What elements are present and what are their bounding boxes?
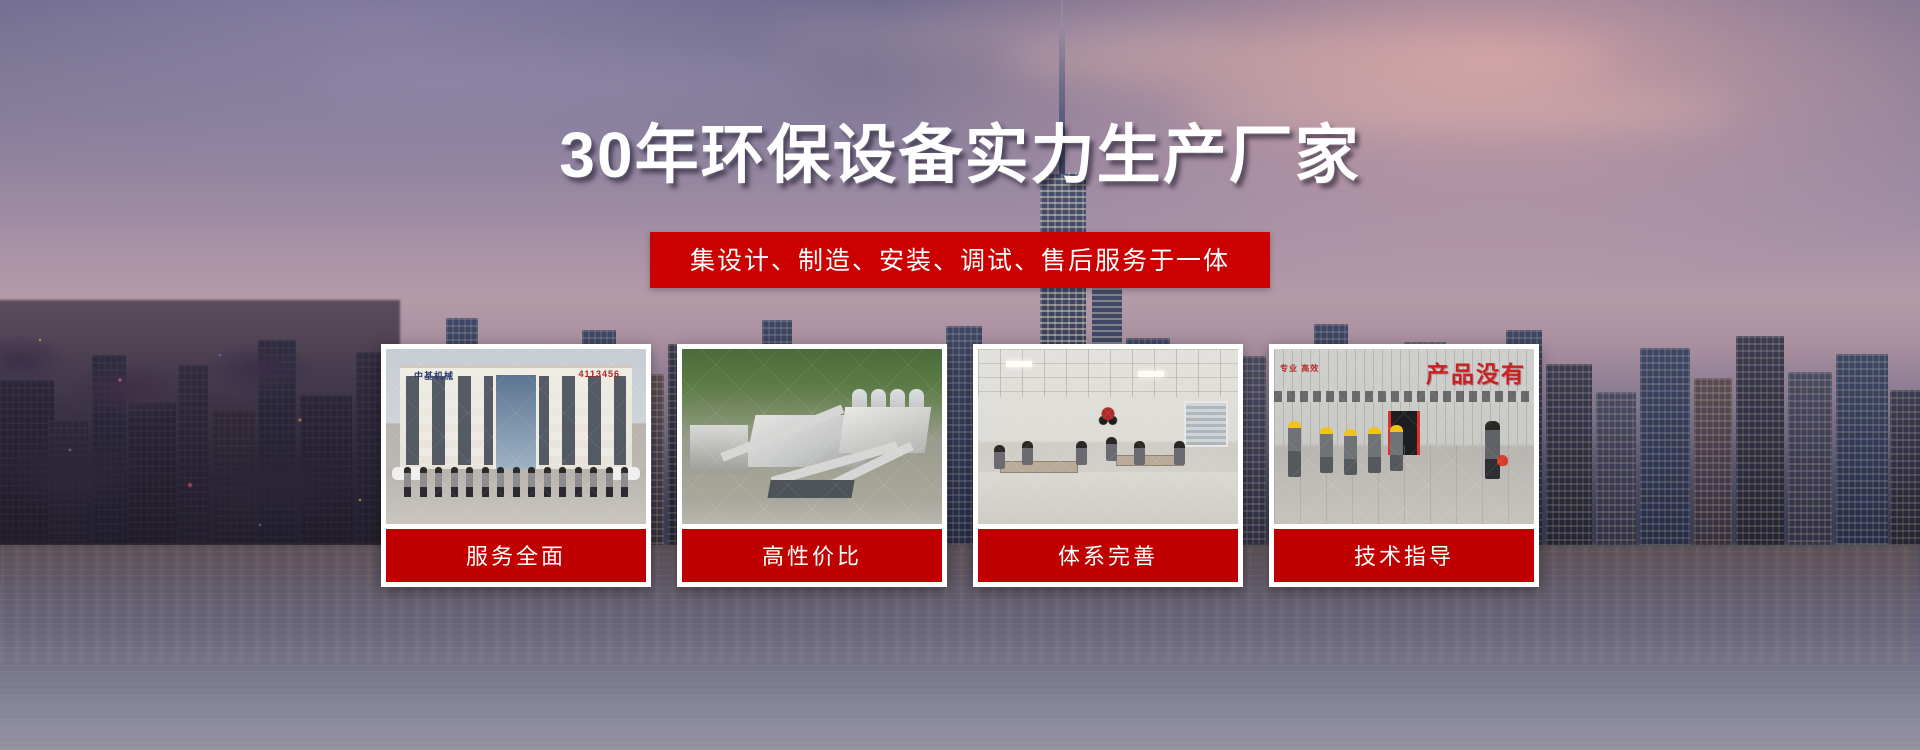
cloud-decoration — [760, 14, 1240, 52]
feature-card-system[interactable]: 体系完善 — [973, 344, 1243, 587]
building-phone-text: 4113456 — [578, 369, 620, 379]
card-caption: 服务全面 — [386, 529, 646, 582]
subtitle-container: 集设计、制造、安装、调试、售后服务于一体 — [0, 232, 1920, 288]
card-caption: 体系完善 — [978, 529, 1238, 582]
feature-card-service[interactable]: 中基机械 4113456 服务全面 — [381, 344, 651, 587]
card-photo-industrial-plant — [682, 349, 942, 524]
hero-banner: 30年环保设备实力生产厂家 集设计、制造、安装、调试、售后服务于一体 中基机械 … — [0, 0, 1920, 750]
red-helmet-icon — [1497, 455, 1508, 466]
feature-card-value[interactable]: 高性价比 — [677, 344, 947, 587]
subtitle-badge: 集设计、制造、安装、调试、售后服务于一体 — [650, 232, 1270, 288]
building-sign-text: 中基机械 — [414, 369, 454, 382]
feature-card-row: 中基机械 4113456 服务全面 — [0, 344, 1920, 587]
card-caption: 高性价比 — [682, 529, 942, 582]
factory-slogan-large: 产品没有 — [1426, 355, 1526, 389]
page-title: 30年环保设备实力生产厂家 — [0, 104, 1920, 196]
wall-logo-icon — [1095, 405, 1121, 427]
cloud-decoration — [300, 58, 820, 104]
feature-card-guidance[interactable]: 专业 高效 产品没有 技术指导 — [1269, 344, 1539, 587]
factory-slogan-small: 专业 高效 — [1280, 363, 1319, 375]
tower-spire-tip — [1061, 0, 1063, 24]
card-photo-factory-workers: 专业 高效 产品没有 — [1274, 349, 1534, 524]
card-caption: 技术指导 — [1274, 529, 1534, 582]
card-photo-office-building: 中基机械 4113456 — [386, 349, 646, 524]
card-photo-office-interior — [978, 349, 1238, 524]
